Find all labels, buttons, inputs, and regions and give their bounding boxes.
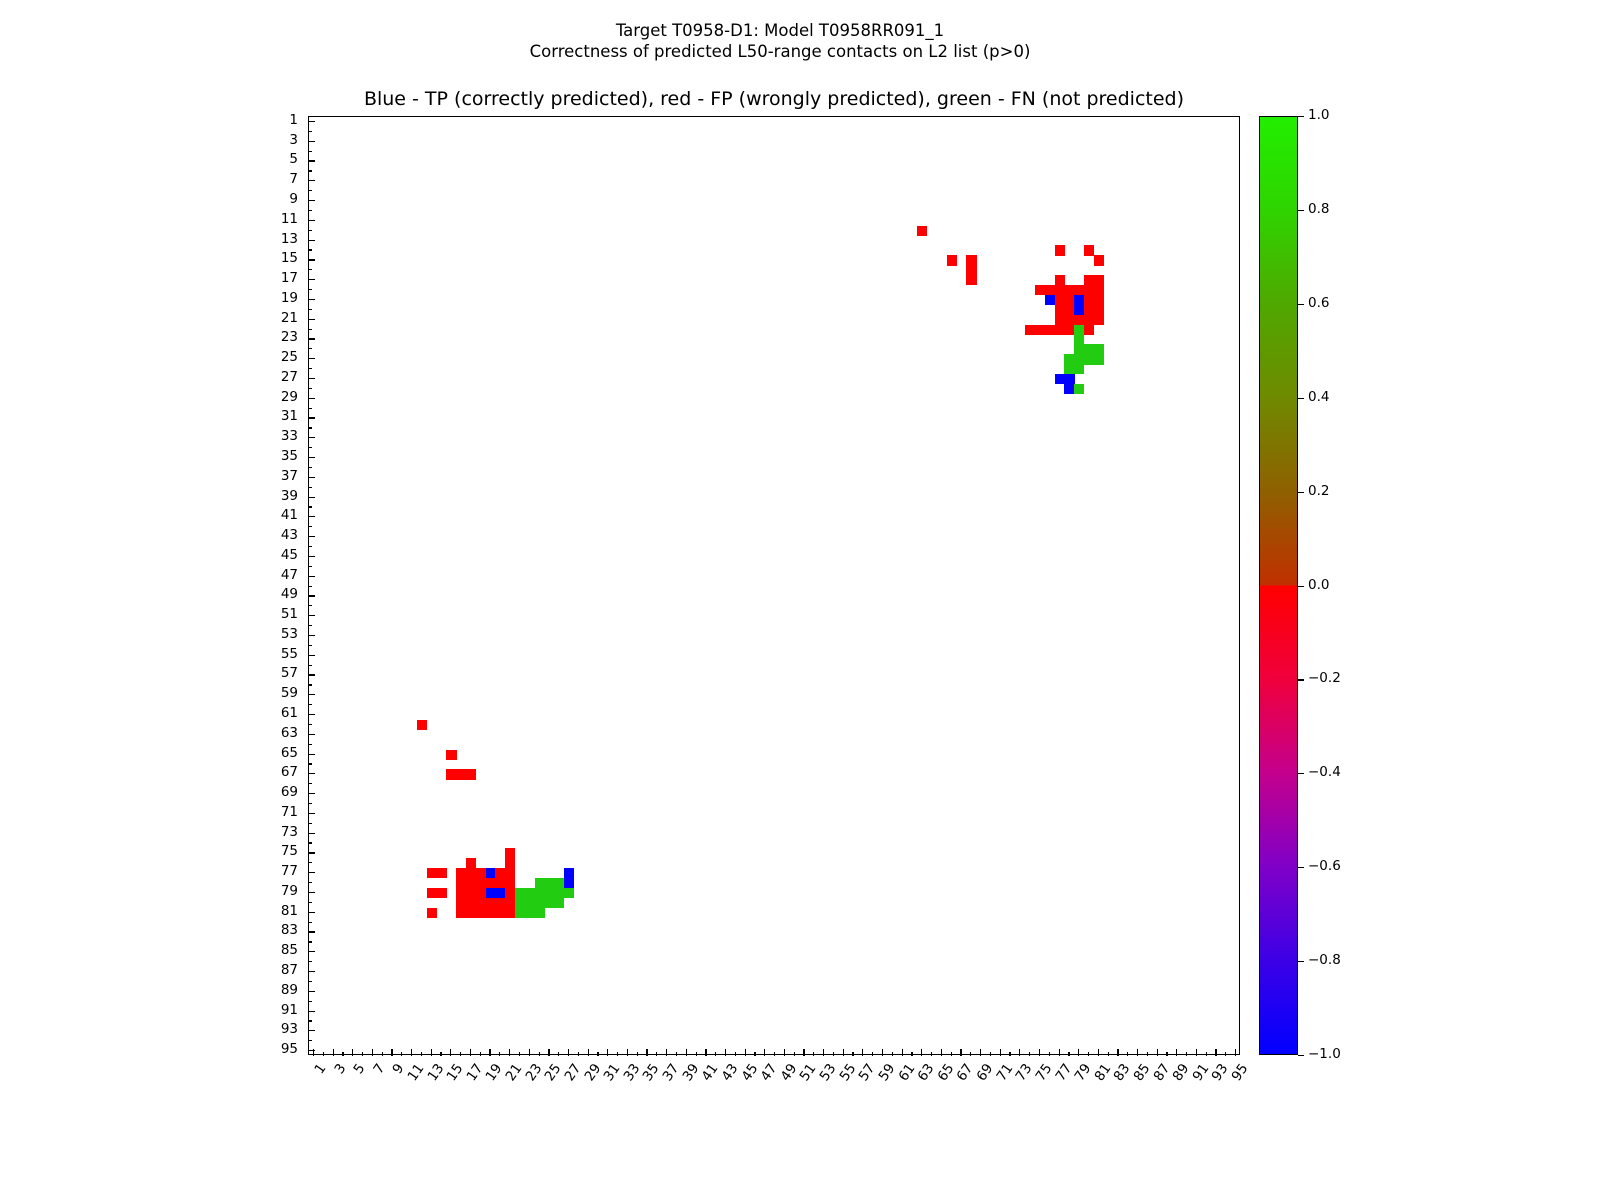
contact-cell-fp: [1055, 275, 1065, 285]
y-axis-tick-label: 67: [281, 766, 298, 780]
x-axis-tick: [1127, 1052, 1128, 1056]
x-axis-tick: [1235, 1049, 1236, 1056]
x-axis-tick: [1019, 1049, 1020, 1056]
x-axis-tick: [509, 1049, 510, 1056]
y-axis-tick: [308, 862, 312, 863]
contact-cell-fn: [1074, 384, 1084, 394]
x-axis-tick: [852, 1052, 853, 1056]
x-axis-tick: [352, 1049, 353, 1056]
contact-cell-fp: [437, 868, 447, 878]
x-axis-tick: [960, 1049, 961, 1056]
contact-cell-fp: [1064, 305, 1074, 315]
x-axis-tick: [696, 1052, 697, 1056]
contact-cell-fp: [966, 275, 976, 285]
contact-cell-fp: [505, 878, 515, 888]
y-axis-tick-label: 89: [281, 984, 298, 998]
x-axis-tick: [558, 1052, 559, 1056]
contact-cell-fp: [456, 888, 466, 898]
contact-cell-fp: [1074, 285, 1084, 295]
y-axis-tick: [308, 556, 315, 557]
colorbar-tick: [1298, 116, 1304, 117]
y-axis-tick: [308, 783, 312, 784]
y-axis-tick: [308, 358, 315, 359]
y-axis-tick: [308, 803, 312, 804]
contact-cell-fn: [515, 898, 525, 908]
x-axis-tick: [843, 1049, 844, 1056]
colorbar-tick: [1298, 586, 1304, 587]
x-axis-tick: [803, 1049, 804, 1056]
colorbar-tick: [1298, 679, 1304, 680]
x-axis-tick: [391, 1049, 392, 1056]
y-axis-tick-label: 63: [281, 727, 298, 741]
x-axis-tick: [1166, 1052, 1167, 1056]
contact-cell-fn: [515, 888, 525, 898]
y-axis-tick: [308, 1011, 315, 1012]
x-axis-tick: [872, 1052, 873, 1056]
colorbar-tick-label: 0.2: [1308, 485, 1329, 499]
contact-cell-fp: [1055, 245, 1065, 255]
x-axis-tick: [784, 1049, 785, 1056]
y-axis-tick: [308, 457, 315, 458]
y-axis-tick: [308, 121, 315, 122]
x-axis-tick: [882, 1049, 883, 1056]
y-axis-tick-label: 59: [281, 687, 298, 701]
x-axis-tick: [862, 1049, 863, 1056]
contact-cell-fp: [1084, 315, 1094, 325]
y-axis-tick: [308, 694, 315, 695]
contact-cell-tp: [486, 888, 496, 898]
y-axis-tick-label: 39: [281, 490, 298, 504]
y-axis-tick: [308, 754, 315, 755]
contact-cell-fp: [1094, 295, 1104, 305]
y-axis-tick-label: 53: [281, 628, 298, 642]
x-axis-tick: [1000, 1049, 1001, 1056]
x-axis-tick: [1206, 1052, 1207, 1056]
x-axis-tick: [450, 1049, 451, 1056]
y-axis-tick: [308, 220, 315, 221]
contact-cell-fp: [1084, 285, 1094, 295]
colorbar-tick: [1298, 492, 1304, 493]
y-axis-tick: [308, 951, 315, 952]
y-axis-tick-label: 37: [281, 470, 298, 484]
contact-cell-fp: [1055, 305, 1065, 315]
contact-cell-fp: [1094, 305, 1104, 315]
contact-cell-fn: [535, 898, 545, 908]
x-axis-tick: [411, 1049, 412, 1056]
y-axis-tick: [308, 378, 315, 379]
y-axis-tick-label: 69: [281, 786, 298, 800]
y-axis-tick: [308, 497, 315, 498]
y-axis-tick: [308, 674, 315, 675]
x-axis-tick: [833, 1052, 834, 1056]
y-axis-tick: [308, 813, 315, 814]
contact-cell-fp: [495, 898, 505, 908]
contact-cell-fp: [1035, 285, 1045, 295]
colorbar-tick-label: 1.0: [1308, 109, 1329, 123]
contact-cell-fp: [466, 858, 476, 868]
contact-cell-fp: [505, 858, 515, 868]
contact-cell-fp: [1084, 305, 1094, 315]
x-axis-tick: [970, 1052, 971, 1056]
y-axis-tick: [308, 586, 312, 587]
x-axis-tick: [529, 1049, 530, 1056]
x-axis-tick: [333, 1049, 334, 1056]
x-axis-tick: [1108, 1052, 1109, 1056]
y-axis-tick-label: 23: [281, 331, 298, 345]
y-axis-tick-label: 11: [281, 213, 298, 227]
colorbar-tick-label: −0.2: [1308, 672, 1341, 686]
y-axis-tick-label: 7: [289, 173, 298, 187]
y-axis-tick: [308, 823, 312, 824]
colorbar-tick: [1298, 773, 1304, 774]
contact-cell-fn: [1064, 354, 1074, 364]
contact-cell-tp: [495, 888, 505, 898]
contact-cell-fn: [554, 898, 564, 908]
y-axis-tick: [308, 160, 315, 161]
contact-cell-fp: [456, 908, 466, 918]
contact-cell-fn: [535, 878, 545, 888]
x-axis-tick: [666, 1049, 667, 1056]
contact-cell-fp: [437, 888, 447, 898]
y-axis-tick: [308, 249, 312, 250]
y-axis-tick: [308, 398, 315, 399]
y-axis-tick: [308, 773, 315, 774]
contact-cell-fp: [476, 878, 486, 888]
y-axis-tick: [308, 615, 315, 616]
contact-cell-fp: [505, 908, 515, 918]
x-axis-tick: [372, 1049, 373, 1056]
contact-cell-fp: [505, 848, 515, 858]
y-axis-tick: [308, 625, 312, 626]
y-axis-tick-label: 43: [281, 529, 298, 543]
y-axis-tick: [308, 665, 312, 666]
contact-cell-fp: [947, 255, 957, 265]
colorbar-tick-label: −0.6: [1308, 860, 1341, 874]
y-axis-tick: [308, 309, 312, 310]
y-axis-tick: [308, 576, 315, 577]
x-axis-tick: [1068, 1052, 1069, 1056]
x-axis-tick: [921, 1049, 922, 1056]
contact-cell-tp: [564, 868, 574, 878]
contact-cell-fn: [1074, 325, 1084, 335]
x-axis-tick: [637, 1052, 638, 1056]
contact-cell-fp: [486, 908, 496, 918]
contact-cell-fp: [466, 888, 476, 898]
y-axis-tick: [308, 259, 315, 260]
x-axis-tick: [715, 1052, 716, 1056]
y-axis-tick: [308, 348, 312, 349]
contact-cell-fp: [446, 750, 456, 760]
y-axis-tick: [308, 902, 312, 903]
y-axis-tick: [308, 941, 312, 942]
y-axis-tick: [308, 595, 315, 596]
y-axis-tick-label: 79: [281, 885, 298, 899]
y-axis-tick: [308, 714, 315, 715]
colorbar-tick: [1298, 304, 1304, 305]
x-axis-tick: [627, 1049, 628, 1056]
x-axis-tick: [1176, 1049, 1177, 1056]
y-axis-tick: [308, 833, 315, 834]
y-axis-tick-label: 77: [281, 865, 298, 879]
contact-cell-fp: [1055, 315, 1065, 325]
y-axis-tick: [308, 566, 312, 567]
y-axis-tick: [308, 200, 315, 201]
x-axis-tick: [1157, 1049, 1158, 1056]
x-axis-tick: [1009, 1052, 1010, 1056]
y-axis-tick: [308, 190, 312, 191]
contact-cell-fp: [466, 908, 476, 918]
y-axis-tick: [308, 477, 315, 478]
y-axis-tick: [308, 546, 312, 547]
y-axis-tick: [308, 704, 312, 705]
x-axis-tick: [382, 1052, 383, 1056]
y-axis-tick: [308, 961, 312, 962]
x-axis-tick: [401, 1052, 402, 1056]
y-axis-tick: [308, 338, 315, 339]
x-axis-tick: [686, 1049, 687, 1056]
contact-cell-fp: [1084, 245, 1094, 255]
x-axis-tick: [362, 1052, 363, 1056]
colorbar-tick: [1298, 867, 1304, 868]
y-axis-tick-label: 55: [281, 648, 298, 662]
x-axis-tick: [480, 1052, 481, 1056]
contact-cell-fp: [1045, 325, 1055, 335]
contact-cell-tp: [1055, 374, 1065, 384]
contact-cell-fn: [515, 908, 525, 918]
contact-cell-fn: [544, 878, 554, 888]
y-axis-tick: [308, 240, 315, 241]
y-axis-tick: [308, 655, 315, 656]
y-axis-tick: [308, 892, 315, 893]
contact-cell-fp: [486, 878, 496, 888]
y-axis-tick-label: 83: [281, 924, 298, 938]
y-axis-tick-label: 17: [281, 272, 298, 286]
y-axis-tick: [308, 289, 312, 290]
contact-cell-tp: [1074, 305, 1084, 315]
y-axis-tick: [308, 645, 312, 646]
y-axis-tick-label: 81: [281, 905, 298, 919]
y-axis-tick: [308, 872, 315, 873]
contact-cell-tp: [1064, 384, 1074, 394]
contact-cell-fp: [1055, 325, 1065, 335]
x-axis-tick: [931, 1052, 932, 1056]
y-axis-tick: [308, 210, 312, 211]
y-axis-tick: [308, 971, 315, 972]
contact-cell-fp: [456, 878, 466, 888]
x-axis-tick: [1088, 1052, 1089, 1056]
y-axis-tick: [308, 427, 312, 428]
y-axis-tick: [308, 131, 312, 132]
y-axis-tick-label: 71: [281, 806, 298, 820]
y-axis-tick: [308, 487, 312, 488]
x-axis-tick: [705, 1049, 706, 1056]
contact-cell-fp: [1055, 285, 1065, 295]
contact-cell-fn: [544, 898, 554, 908]
y-axis-tick: [308, 842, 312, 843]
x-axis-tick: [754, 1052, 755, 1056]
y-axis-tick-label: 1: [289, 114, 298, 128]
x-axis-tick: [902, 1049, 903, 1056]
x-axis-tick: [1039, 1049, 1040, 1056]
x-axis-tick: [764, 1049, 765, 1056]
x-axis-tick: [1059, 1049, 1060, 1056]
contact-cell-fn: [535, 888, 545, 898]
contact-cell-fn: [1094, 344, 1104, 354]
x-axis-tick: [911, 1052, 912, 1056]
x-axis-tick: [1078, 1049, 1079, 1056]
contact-cell-fn: [554, 878, 564, 888]
y-axis-tick: [308, 1050, 315, 1051]
x-axis-tick: [794, 1052, 795, 1056]
x-axis-tick: [941, 1049, 942, 1056]
contact-map-plot[interactable]: [308, 116, 1240, 1055]
x-axis-tick: [813, 1052, 814, 1056]
contact-cell-fp: [456, 769, 466, 779]
contact-cell-fp: [1035, 325, 1045, 335]
contact-cell-fp: [456, 868, 466, 878]
contact-cell-fn: [1074, 334, 1084, 344]
contact-cell-tp: [1064, 374, 1074, 384]
figure-title: Target T0958-D1: Model T0958RR091_1 Corr…: [0, 20, 1560, 62]
y-axis-tick: [308, 931, 315, 932]
y-axis-tick: [308, 1030, 315, 1031]
y-axis-tick-label: 9: [289, 193, 298, 207]
contact-cell-fp: [466, 868, 476, 878]
contact-cell-fp: [427, 888, 437, 898]
colorbar-tick-label: 0.6: [1308, 297, 1329, 311]
colorbar-tick-label: −0.4: [1308, 766, 1341, 780]
y-axis-tick: [308, 279, 315, 280]
y-axis-tick: [308, 724, 312, 725]
y-axis-tick-label: 21: [281, 312, 298, 326]
x-axis-tick: [548, 1049, 549, 1056]
y-axis-tick-label: 3: [289, 134, 298, 148]
contact-cell-fp: [466, 898, 476, 908]
y-axis-tick-label: 29: [281, 391, 298, 405]
y-axis-tick-label: 65: [281, 747, 298, 761]
contact-cell-fp: [917, 226, 927, 236]
contact-cell-tp: [1074, 295, 1084, 305]
y-axis-tick: [308, 763, 312, 764]
contact-cell-fp: [1064, 285, 1074, 295]
contact-cell-fp: [1084, 295, 1094, 305]
y-axis-tick-label: 15: [281, 252, 298, 266]
contact-cell-fp: [1094, 315, 1104, 325]
contact-cell-fp: [476, 868, 486, 878]
x-axis-tick: [617, 1052, 618, 1056]
x-axis-tick: [1117, 1049, 1118, 1056]
y-axis-tick: [308, 299, 315, 300]
colorbar-tick-label: 0.8: [1308, 203, 1329, 217]
y-axis-tick: [308, 388, 312, 389]
x-axis-tick: [539, 1052, 540, 1056]
contact-cell-fp: [1074, 315, 1084, 325]
axes-legend-title: Blue - TP (correctly predicted), red - F…: [308, 88, 1240, 110]
contact-cell-fn: [535, 908, 545, 918]
x-axis-tick: [489, 1049, 490, 1056]
y-axis-tick-label: 33: [281, 430, 298, 444]
contact-cell-fp: [1084, 325, 1094, 335]
contact-cell-fp: [505, 868, 515, 878]
colorbar-tick: [1298, 398, 1304, 399]
y-axis-tick-label: 51: [281, 608, 298, 622]
contact-cell-fn: [554, 888, 564, 898]
y-axis-tick: [308, 744, 312, 745]
y-axis-tick: [308, 170, 312, 171]
y-axis-tick-label: 85: [281, 944, 298, 958]
y-axis-tick: [308, 269, 312, 270]
contact-cell-fp: [417, 720, 427, 730]
y-axis-tick: [308, 1001, 312, 1002]
contact-cell-fp: [505, 888, 515, 898]
contact-cell-fp: [505, 898, 515, 908]
contact-cell-fp: [1094, 285, 1104, 295]
contact-cell-fp: [1094, 275, 1104, 285]
contact-cell-fp: [427, 908, 437, 918]
x-axis-tick: [519, 1052, 520, 1056]
y-axis-tick: [308, 734, 315, 735]
x-axis-tick: [735, 1052, 736, 1056]
y-axis-tick-label: 91: [281, 1004, 298, 1018]
contact-cell-fn: [1084, 354, 1094, 364]
y-axis-tick-label: 13: [281, 233, 298, 247]
y-axis-tick: [308, 793, 315, 794]
x-axis-tick: [597, 1052, 598, 1056]
contact-cell-fp: [495, 878, 505, 888]
x-axis-tick: [646, 1049, 647, 1056]
contact-cell-fp: [1045, 285, 1055, 295]
contact-cell-fn: [525, 888, 535, 898]
y-axis-tick: [308, 319, 315, 320]
contact-cell-fp: [1064, 325, 1074, 335]
y-axis-tick: [308, 912, 315, 913]
figure-title-line-2: Correctness of predicted L50-range conta…: [0, 41, 1560, 62]
contact-cell-fp: [476, 888, 486, 898]
y-axis-tick: [308, 981, 312, 982]
y-axis-tick: [308, 368, 312, 369]
contact-cell-fp: [1084, 275, 1094, 285]
x-axis-tick: [1186, 1052, 1187, 1056]
x-axis-tick: [440, 1052, 441, 1056]
colorbar: [1259, 116, 1298, 1055]
y-axis-tick-label: 75: [281, 845, 298, 859]
contact-cell-fp: [427, 868, 437, 878]
colorbar-tick-label: −1.0: [1308, 1048, 1341, 1062]
contact-cell-fn: [564, 888, 574, 898]
y-axis-tick: [308, 516, 315, 517]
contact-cell-fp: [1064, 315, 1074, 325]
x-axis-tick: [588, 1049, 589, 1056]
x-axis-tick: [421, 1052, 422, 1056]
x-axis-tick: [774, 1052, 775, 1056]
contact-cell-tp: [1045, 295, 1055, 305]
x-axis-tick: [823, 1049, 824, 1056]
y-axis-tick: [308, 991, 315, 992]
x-axis-tick: [460, 1052, 461, 1056]
contact-cell-fp: [446, 769, 456, 779]
x-axis-tick: [892, 1052, 893, 1056]
contact-cell-fp: [966, 265, 976, 275]
contact-cell-tp: [564, 878, 574, 888]
y-axis-tick: [308, 605, 312, 606]
y-axis-tick: [308, 180, 315, 181]
x-axis-tick: [470, 1049, 471, 1056]
y-axis-tick: [308, 151, 312, 152]
x-axis-tick: [676, 1052, 677, 1056]
y-axis-tick: [308, 230, 312, 231]
contact-cell-fp: [966, 255, 976, 265]
y-axis-tick: [308, 447, 312, 448]
